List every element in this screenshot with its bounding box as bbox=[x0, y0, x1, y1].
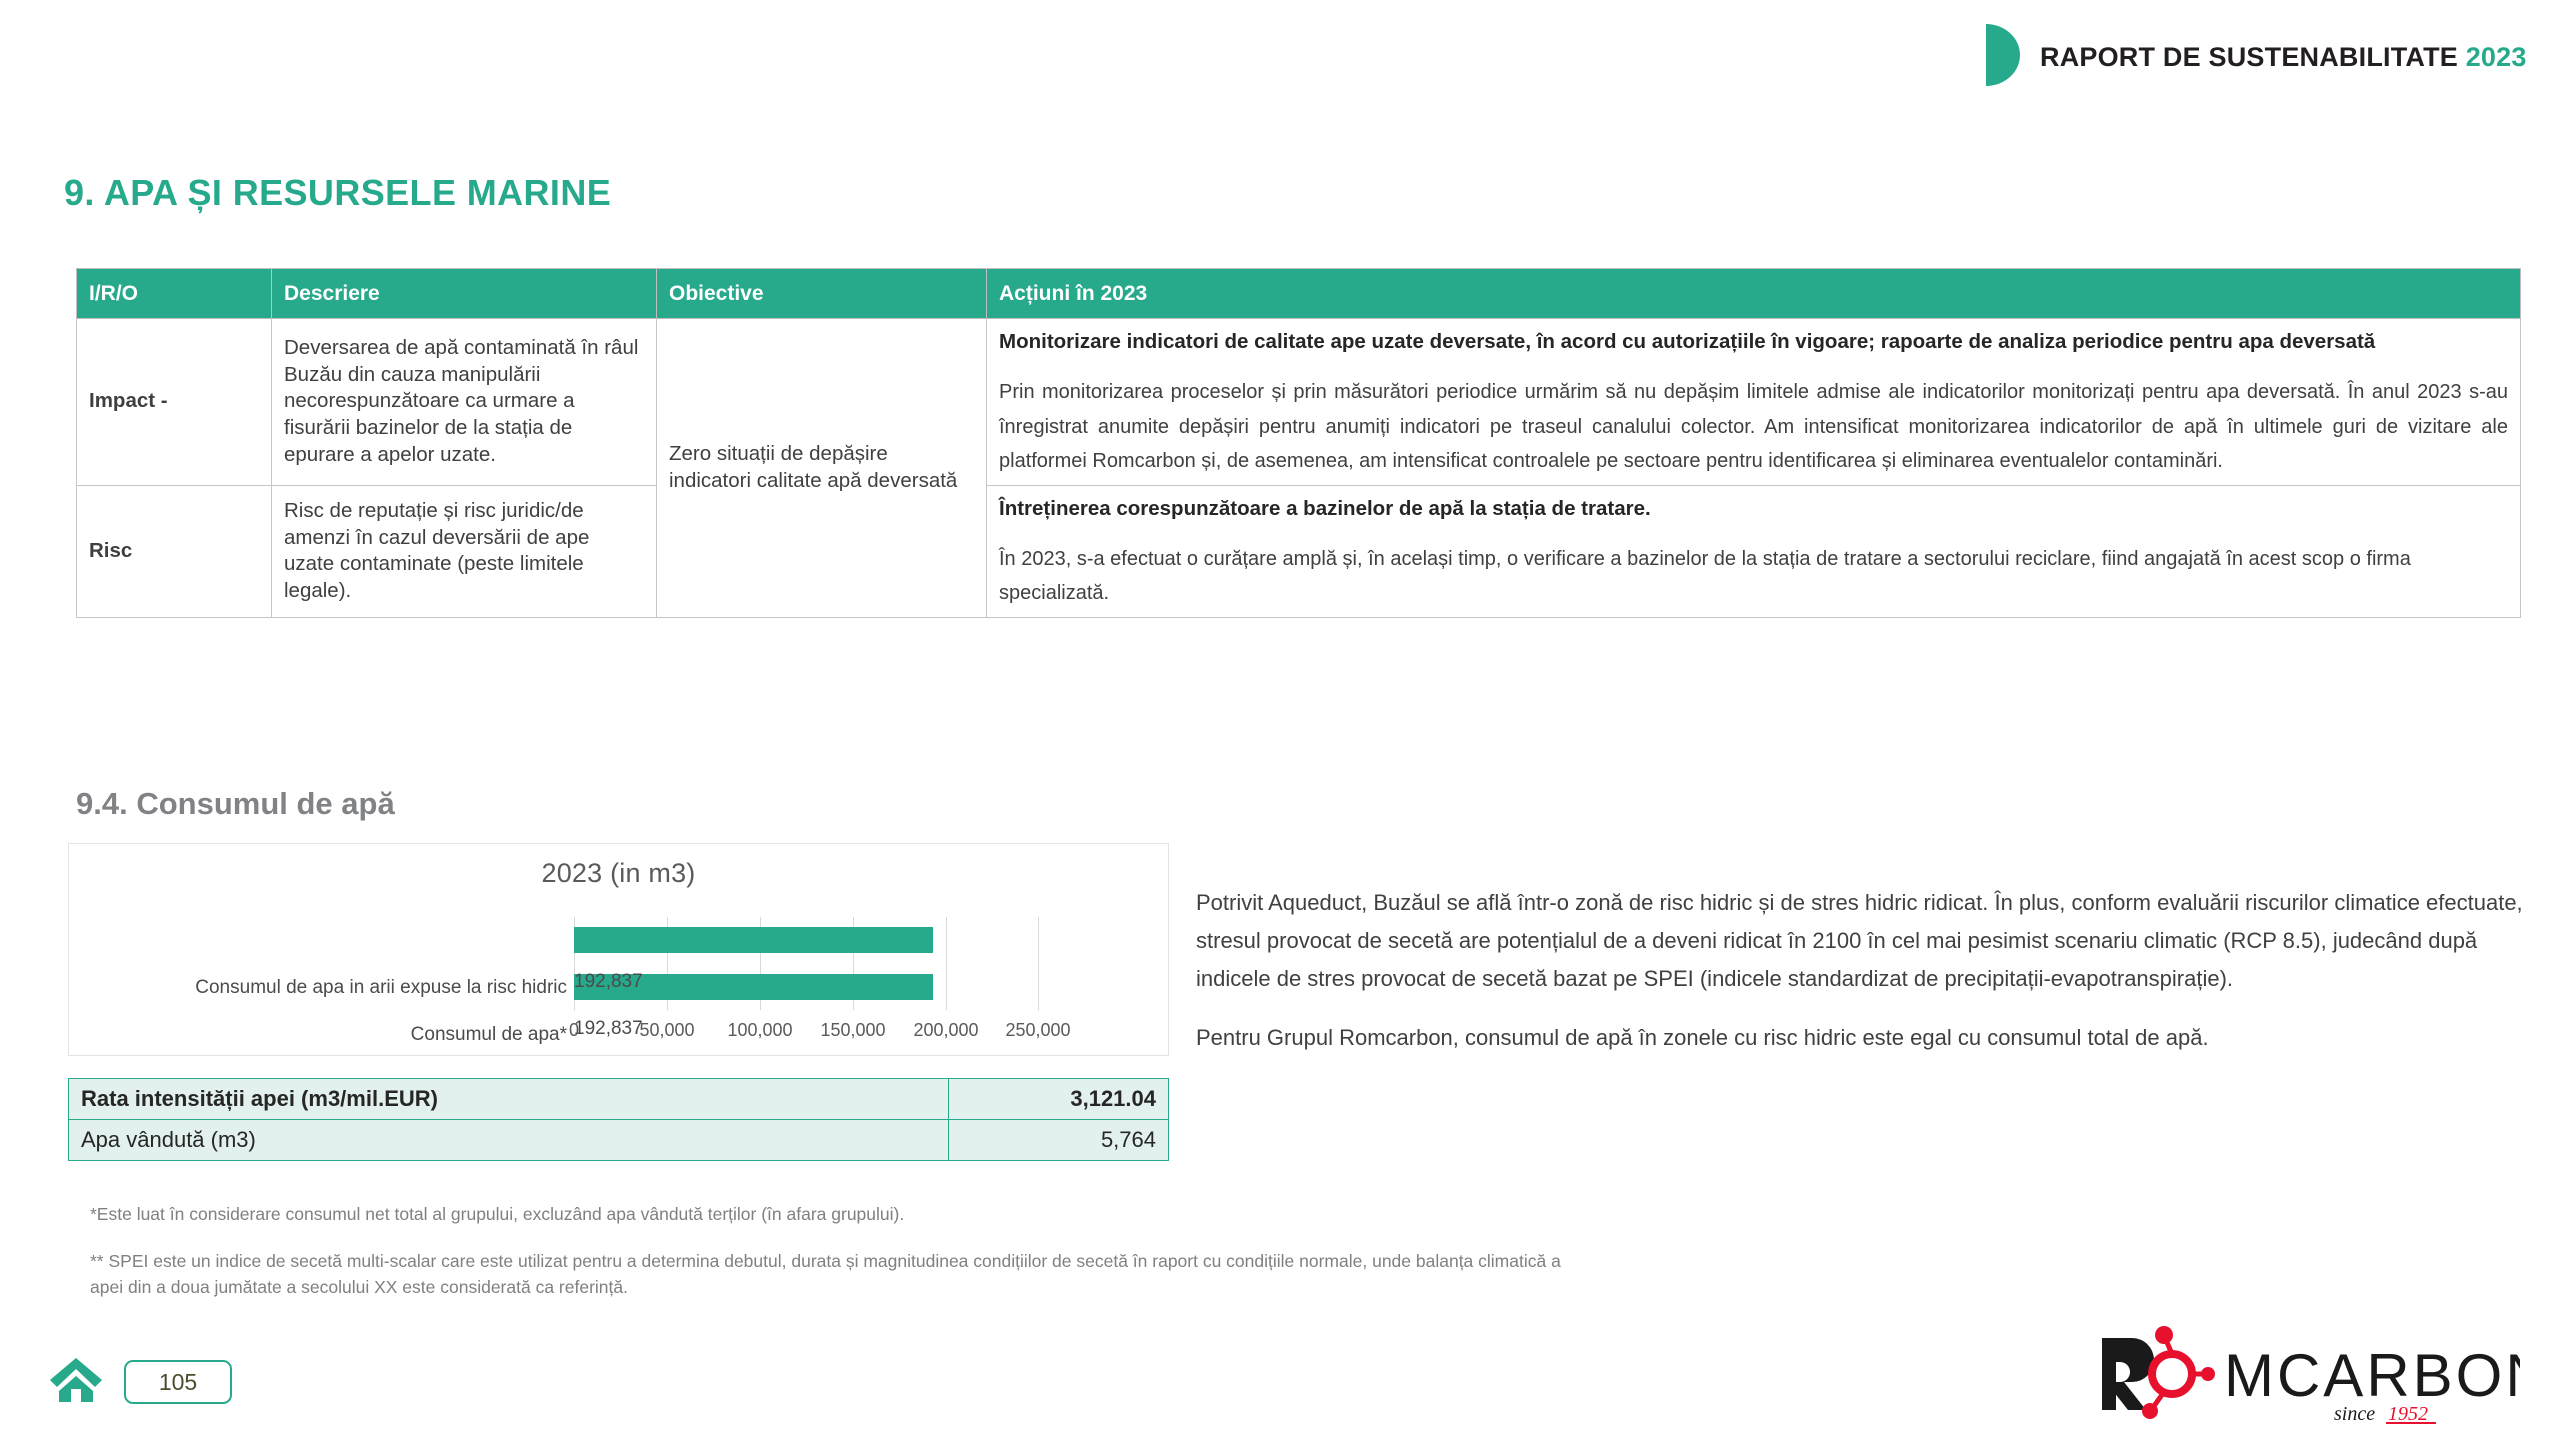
cell-actiuni-impact: Monitorizare indicatori de calitate ape … bbox=[987, 319, 2521, 486]
cell-iro-impact: Impact - bbox=[77, 319, 272, 486]
romcarbon-logo: MCARBON since 1952 bbox=[2096, 1322, 2520, 1426]
chart-gridline bbox=[1038, 917, 1039, 1010]
actiuni-heading-impact: Monitorizare indicatori de calitate ape … bbox=[999, 325, 2508, 359]
actiuni-heading-risc: Întreținerea corespunzătoare a bazinelor… bbox=[999, 492, 2508, 526]
chart-bar bbox=[574, 927, 933, 953]
page-title: 9. APA ȘI RESURSELE MARINE bbox=[64, 172, 611, 214]
chart-value-label: 192,837 bbox=[574, 1018, 643, 1040]
footnote-2: ** SPEI este un indice de secetă multi-s… bbox=[90, 1249, 1570, 1300]
water-metrics-table: Rata intensității apei (m3/mil.EUR) 3,12… bbox=[68, 1078, 1169, 1161]
table-header-row: I/R/O Descriere Obiective Acțiuni în 202… bbox=[77, 269, 2521, 319]
side-paragraph-aqueduct: Potrivit Aqueduct, Buzăul se află într-o… bbox=[1196, 884, 2526, 997]
actiuni-body-impact: Prin monitorizarea proceselor și prin mă… bbox=[999, 375, 2508, 478]
chart-tick-label: 150,000 bbox=[820, 1020, 885, 1041]
report-header-year: 2023 bbox=[2466, 42, 2527, 72]
report-header-title: RAPORT DE SUSTENABILITATE 2023 bbox=[2040, 42, 2527, 73]
column-header-descriere: Descriere bbox=[272, 269, 657, 319]
cell-iro-risc: Risc bbox=[77, 485, 272, 617]
table-row: Rata intensității apei (m3/mil.EUR) 3,12… bbox=[69, 1079, 1169, 1120]
table-row: Risc Risc de reputație și risc juridic/d… bbox=[77, 485, 2521, 617]
column-header-obiective: Obiective bbox=[657, 269, 987, 319]
cell-descriere-impact: Deversarea de apă contaminată în râul Bu… bbox=[272, 319, 657, 486]
table-row: Apa vândută (m3) 5,764 bbox=[69, 1120, 1169, 1161]
actiuni-body-risc: În 2023, s-a efectuat o curățare amplă ș… bbox=[999, 542, 2508, 611]
chart-tick-label: 250,000 bbox=[1005, 1020, 1070, 1041]
cell-obiective: Zero situații de depășire indicatori cal… bbox=[657, 319, 987, 618]
chart-value-label: 192,837 bbox=[574, 971, 643, 993]
chart-tick-label: 100,000 bbox=[727, 1020, 792, 1041]
cell-actiuni-risc: Întreținerea corespunzătoare a bazinelor… bbox=[987, 485, 2521, 617]
water-consumption-chart: 2023 (in m3) Consumul de apa in arii exp… bbox=[68, 843, 1169, 1056]
chart-gridline bbox=[946, 917, 947, 1010]
svg-text:MCARBON: MCARBON bbox=[2224, 1342, 2520, 1409]
side-text-column: Potrivit Aqueduct, Buzăul se află într-o… bbox=[1196, 884, 2526, 1079]
chart-title: 2023 (in m3) bbox=[69, 858, 1168, 889]
side-paragraph-romcarbon: Pentru Grupul Romcarbon, consumul de apă… bbox=[1196, 1019, 2526, 1057]
chart-plot-area bbox=[574, 917, 1039, 1010]
metric-value-water-sold: 5,764 bbox=[949, 1120, 1169, 1161]
footnotes: *Este luat în considerare consumul net t… bbox=[90, 1202, 1570, 1322]
report-header-label: RAPORT DE SUSTENABILITATE bbox=[2040, 42, 2458, 72]
column-header-iro: I/R/O bbox=[77, 269, 272, 319]
document-header: RAPORT DE SUSTENABILITATE 2023 bbox=[0, 0, 2560, 110]
chart-tick-label: 200,000 bbox=[913, 1020, 978, 1041]
subsection-title: 9.4. Consumul de apă bbox=[76, 786, 395, 822]
svg-text:1952: 1952 bbox=[2388, 1403, 2428, 1425]
chart-category-label: Consumul de apa* bbox=[69, 1024, 567, 1046]
metric-name-water-sold: Apa vândută (m3) bbox=[69, 1120, 949, 1161]
page-number: 105 bbox=[159, 1369, 197, 1396]
cell-descriere-risc: Risc de reputație și risc juridic/de ame… bbox=[272, 485, 657, 617]
column-header-actiuni: Acțiuni în 2023 bbox=[987, 269, 2521, 319]
home-icon[interactable] bbox=[48, 1356, 104, 1404]
page-number-badge[interactable]: 105 bbox=[124, 1360, 232, 1404]
svg-text:since: since bbox=[2334, 1403, 2375, 1425]
iro-table: I/R/O Descriere Obiective Acțiuni în 202… bbox=[76, 268, 2521, 618]
footnote-1: *Este luat în considerare consumul net t… bbox=[90, 1202, 1570, 1227]
table-row: Impact - Deversarea de apă contaminată î… bbox=[77, 319, 2521, 486]
leaf-half-circle-icon bbox=[1986, 24, 2020, 86]
molecule-o-icon bbox=[2142, 1326, 2215, 1419]
metric-value-intensity: 3,121.04 bbox=[949, 1079, 1169, 1120]
chart-tick-label: 0 bbox=[569, 1020, 579, 1041]
chart-category-label: Consumul de apa in arii expuse la risc h… bbox=[69, 977, 567, 999]
chart-tick-label: 50,000 bbox=[639, 1020, 694, 1041]
metric-name-intensity: Rata intensității apei (m3/mil.EUR) bbox=[69, 1079, 949, 1120]
